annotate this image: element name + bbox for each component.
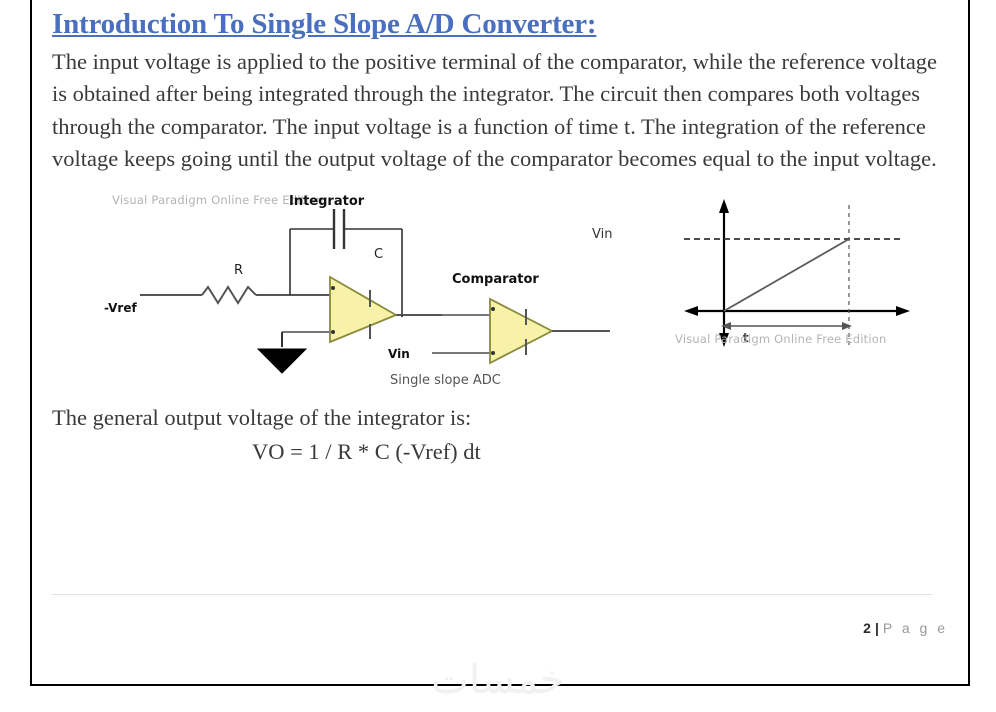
document-page: Introduction To Single Slope A/D Convert… xyxy=(30,0,970,686)
integrator-inverting-terminal xyxy=(331,286,335,290)
page-number-footer: 2|P a g e xyxy=(863,620,948,636)
comparator-inverting-terminal xyxy=(491,307,495,311)
ramp-graph-svg xyxy=(632,195,932,385)
circuit-diagram-svg xyxy=(112,187,632,402)
figure-single-slope-adc: Visual Paradigm Online Free Edition Inte… xyxy=(52,187,952,402)
resistor-symbol xyxy=(202,287,256,303)
graph-ramp-line xyxy=(724,239,849,311)
graph-vin-label: Vin xyxy=(592,227,612,242)
integrator-noninverting-terminal xyxy=(331,330,335,334)
page-word-label: P a g e xyxy=(883,620,948,636)
figure-watermark-graph: Visual Paradigm Online Free Edition xyxy=(675,332,886,346)
comparator-opamp-symbol xyxy=(490,299,552,363)
vin-circuit-label: Vin xyxy=(388,347,410,361)
page-content: Introduction To Single Slope A/D Convert… xyxy=(52,6,952,465)
page-number-separator: | xyxy=(871,620,883,636)
page-title: Introduction To Single Slope A/D Convert… xyxy=(52,6,952,42)
integrator-label: Integrator xyxy=(289,194,364,209)
graph-time-span-arrow-right xyxy=(842,322,852,330)
vref-label: -Vref xyxy=(104,301,137,315)
footer-divider xyxy=(52,594,932,595)
integrator-output-formula: VO = 1 / R * C (-Vref) dt xyxy=(52,439,952,465)
intro-paragraph: The input voltage is applied to the posi… xyxy=(52,46,952,175)
after-figure-text: The general output voltage of the integr… xyxy=(52,402,952,434)
ground-symbol xyxy=(258,349,306,373)
capacitor-label: C xyxy=(374,247,383,262)
graph-time-span-arrow-left xyxy=(721,322,731,330)
integrator-opamp-symbol xyxy=(330,277,396,342)
graph-x-axis-arrow-right xyxy=(896,306,910,316)
graph-x-axis-arrow-left xyxy=(684,306,698,316)
figure-caption: Single slope ADC xyxy=(390,373,501,388)
comparator-noninverting-terminal xyxy=(491,351,495,355)
graph-y-axis-arrow-up xyxy=(719,199,729,213)
comparator-label: Comparator xyxy=(452,272,539,287)
page-number-value: 2 xyxy=(863,620,871,636)
resistor-label: R xyxy=(234,263,243,278)
